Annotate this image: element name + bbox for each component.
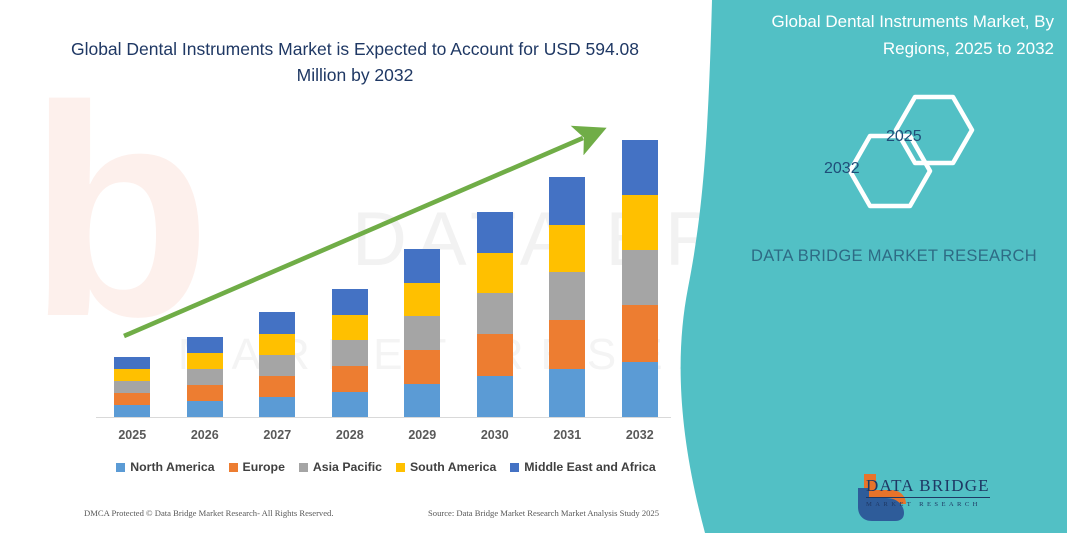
x-axis-label: 2030 — [459, 428, 531, 442]
x-axis-labels: 20252026202720282029203020312032 — [96, 428, 676, 442]
hexagon-outline-icon — [814, 92, 1004, 212]
side-panel-content: Global Dental Instruments Market, By Reg… — [674, 0, 1067, 533]
legend-swatch — [510, 463, 519, 472]
panel-title: Global Dental Instruments Market, By Reg… — [734, 8, 1054, 62]
logo-text: DATA BRIDGE MARKET RESEARCH — [866, 476, 990, 508]
chart-legend: North AmericaEuropeAsia PacificSouth Ame… — [96, 460, 676, 474]
footer: DMCA Protected © Data Bridge Market Rese… — [0, 508, 700, 530]
chart-pane: Global Dental Instruments Market is Expe… — [0, 0, 700, 533]
infographic-root: b DATA BRIDGE MARKET RESEARCH Global Den… — [0, 0, 1067, 533]
logo-subtitle: MARKET RESEARCH — [866, 501, 990, 508]
x-axis-label: 2032 — [604, 428, 676, 442]
x-axis-label: 2029 — [386, 428, 458, 442]
legend-item[interactable]: Europe — [229, 460, 285, 474]
hex-label-2025: 2025 — [886, 128, 922, 146]
page-title: Global Dental Instruments Market is Expe… — [60, 36, 650, 88]
side-panel: Global Dental Instruments Market, By Reg… — [674, 0, 1067, 533]
legend-item[interactable]: North America — [116, 460, 214, 474]
legend-swatch — [116, 463, 125, 472]
x-axis-label: 2027 — [241, 428, 313, 442]
x-axis-label: 2031 — [531, 428, 603, 442]
hexagon-badges — [814, 92, 1004, 212]
x-axis-label: 2028 — [314, 428, 386, 442]
logo-title: DATA BRIDGE — [866, 476, 990, 498]
legend-label: North America — [130, 460, 214, 474]
legend-item[interactable]: Asia Pacific — [299, 460, 382, 474]
legend-swatch — [299, 463, 308, 472]
growth-arrow-icon — [96, 118, 676, 418]
legend-swatch — [396, 463, 405, 472]
legend-label: Middle East and Africa — [524, 460, 655, 474]
legend-item[interactable]: South America — [396, 460, 496, 474]
panel-brand-name: DATA BRIDGE MARKET RESEARCH — [734, 243, 1054, 270]
x-axis-label: 2026 — [169, 428, 241, 442]
legend-label: Asia Pacific — [313, 460, 382, 474]
footer-source: Source: Data Bridge Market Research Mark… — [428, 508, 659, 518]
hex-label-2032: 2032 — [824, 160, 860, 178]
legend-label: South America — [410, 460, 496, 474]
legend-label: Europe — [243, 460, 285, 474]
footer-copyright: DMCA Protected © Data Bridge Market Rese… — [84, 508, 334, 518]
legend-item[interactable]: Middle East and Africa — [510, 460, 655, 474]
x-axis-label: 2025 — [96, 428, 168, 442]
legend-swatch — [229, 463, 238, 472]
